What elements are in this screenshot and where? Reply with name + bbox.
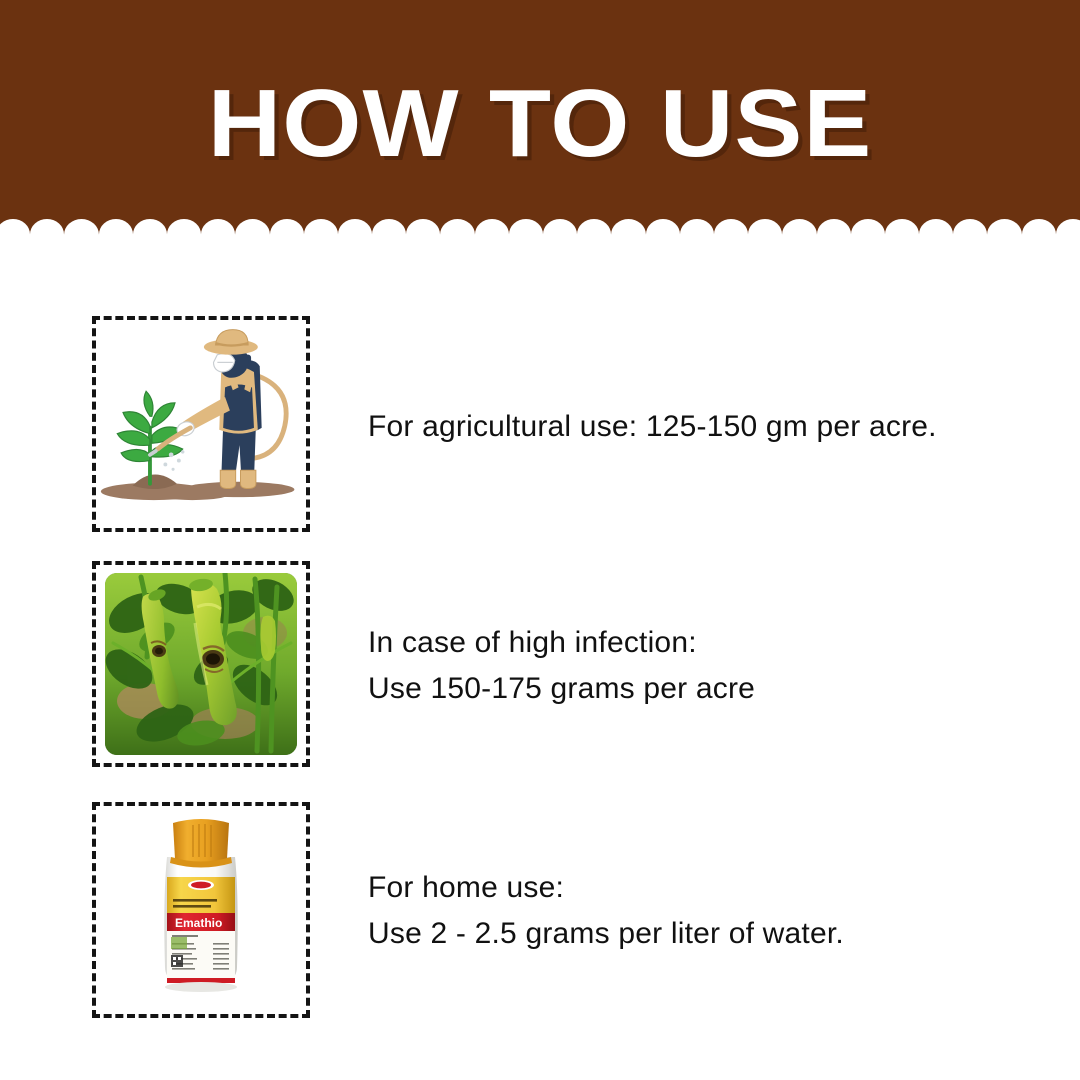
scallop-notch (611, 219, 645, 245)
scallop-notch (646, 219, 680, 245)
infected-chili-photo (105, 573, 297, 755)
scallop-notch (235, 219, 269, 245)
scallop-notch (1022, 219, 1056, 245)
scallop-notch (817, 219, 851, 245)
product-bottle-photo: Emathio (96, 806, 306, 1014)
scallop-notch (782, 219, 816, 245)
scallop-notch (748, 219, 782, 245)
scallop-notch (714, 219, 748, 245)
scallop-notch (406, 219, 440, 245)
scallop-notch (953, 219, 987, 245)
scallop-notch (577, 219, 611, 245)
scallop-notch (304, 219, 338, 245)
header-band: HOW TO USE (0, 0, 1080, 244)
bottle-artwork: Emathio (151, 815, 251, 1005)
scallop-notch (167, 219, 201, 245)
instruction-row (92, 316, 310, 532)
instruction-image-product-bottle: Emathio (92, 802, 310, 1018)
chili-photo-artwork (105, 573, 297, 755)
scallop-notch (543, 219, 577, 245)
scallop-notch (64, 219, 98, 245)
instruction-row (92, 561, 310, 767)
scallop-notch (0, 219, 30, 245)
caption-line: Use 150-175 grams per acre (368, 666, 755, 712)
scallop-notch (509, 219, 543, 245)
scallop-notch (99, 219, 133, 245)
scallop-notch (919, 219, 953, 245)
scallop-notch (987, 219, 1021, 245)
instruction-caption: In case of high infection: Use 150-175 g… (368, 620, 755, 712)
scallop-notch (372, 219, 406, 245)
instruction-caption: For agricultural use: 125-150 gm per acr… (368, 404, 937, 450)
caption-line: In case of high infection: (368, 620, 755, 666)
scallop-notch (680, 219, 714, 245)
caption-line: Use 2 - 2.5 grams per liter of water. (368, 911, 844, 957)
scallop-notch (270, 219, 304, 245)
scallop-notch (885, 219, 919, 245)
instruction-row: Emathio (92, 802, 310, 1018)
farmer-spraying-illustration (96, 320, 306, 528)
instruction-image-farmer-spraying (92, 316, 310, 532)
scallop-notch (133, 219, 167, 245)
scallop-notch (338, 219, 372, 245)
scallop-notch (201, 219, 235, 245)
scalloped-edge (0, 219, 1080, 245)
page-title: HOW TO USE (0, 74, 1080, 174)
product-brand-label: Emathio (175, 916, 222, 930)
caption-line: For home use: (368, 865, 844, 911)
scallop-notch (475, 219, 509, 245)
instruction-caption: For home use: Use 2 - 2.5 grams per lite… (368, 865, 844, 957)
caption-line: For agricultural use: 125-150 gm per acr… (368, 404, 937, 450)
scallop-notch (440, 219, 474, 245)
scallop-notch (1056, 219, 1080, 245)
scallop-notch (851, 219, 885, 245)
instruction-image-infected-chili (92, 561, 310, 767)
scallop-notch (30, 219, 64, 245)
